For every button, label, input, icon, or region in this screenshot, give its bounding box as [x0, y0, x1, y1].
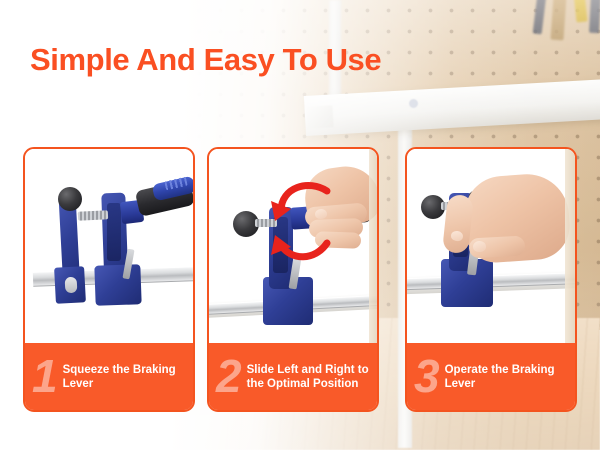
- bar-clamp-illustration: [25, 149, 193, 345]
- step-1-photo: [25, 149, 193, 345]
- background-bench-post: [369, 149, 377, 345]
- step-2-footer: 2 Slide Left and Right to the Optimal Po…: [208, 343, 378, 411]
- step-2-label: Slide Left and Right to the Optimal Posi…: [247, 363, 372, 392]
- clamp-jaw-texture: [107, 203, 121, 261]
- step-3-photo: [407, 149, 575, 345]
- step-card-1: 1 Squeeze the Braking Lever: [23, 147, 195, 412]
- clamp-pivot-pad: [58, 187, 82, 211]
- step-1-footer: 1 Squeeze the Braking Lever: [24, 343, 194, 411]
- page-title: Simple And Easy To Use: [30, 44, 381, 75]
- step-1-number: 1: [32, 357, 56, 397]
- step-card-2: 2 Slide Left and Right to the Optimal Po…: [207, 147, 379, 412]
- clamp-jaw-pad: [65, 277, 78, 294]
- step-1-label: Squeeze the Braking Lever: [63, 363, 188, 392]
- infographic-root: Simple And Easy To Use: [0, 0, 600, 450]
- background-wood-edge: [565, 149, 575, 345]
- hand-operating-lever-illustration: [407, 149, 575, 345]
- step-3-number: 3: [414, 357, 438, 397]
- rotation-arrow-icon: [265, 169, 337, 287]
- step-card-3: 3 Operate the Braking Lever: [405, 147, 577, 412]
- clamp-slider-block: [94, 264, 141, 306]
- step-3-footer: 3 Operate the Braking Lever: [406, 343, 576, 411]
- clamp-screw: [78, 210, 108, 221]
- step-3-label: Operate the Braking Lever: [445, 363, 570, 392]
- hand-rotating-clamp-illustration: [209, 149, 377, 345]
- step-2-number: 2: [216, 357, 240, 397]
- step-2-photo: [209, 149, 377, 345]
